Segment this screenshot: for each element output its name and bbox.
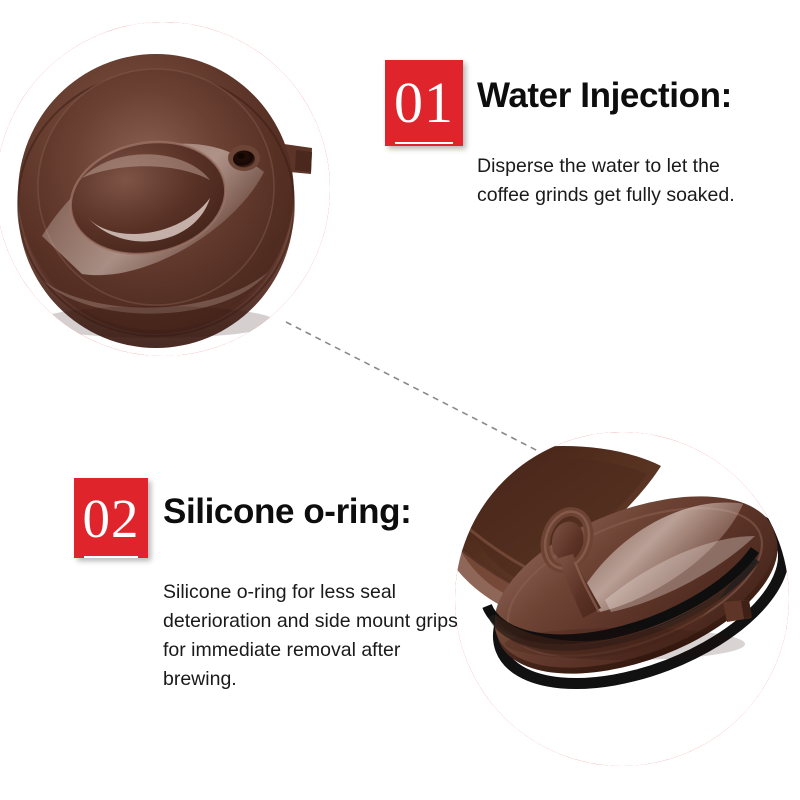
feature-title-01: Water Injection: bbox=[477, 76, 732, 116]
feature-description-01: Disperse the water to let the coffee gri… bbox=[477, 152, 767, 210]
infographic-canvas: 01 Water Injection: Disperse the water t… bbox=[0, 0, 800, 800]
feature-description-02: Silicone o-ring for less seal deteriorat… bbox=[163, 578, 463, 694]
product-photo-bottom-circle bbox=[455, 432, 789, 766]
pod-lid-top-view-illustration bbox=[0, 22, 330, 356]
photo-top-clip bbox=[0, 22, 330, 356]
feature-number-badge-01: 01 bbox=[385, 60, 463, 146]
water-injection-hole bbox=[233, 151, 255, 168]
feature-number-01: 01 bbox=[394, 74, 454, 132]
product-photo-top-circle bbox=[0, 22, 330, 356]
feature-title-02: Silicone o-ring: bbox=[163, 492, 411, 532]
feature-number-02: 02 bbox=[83, 491, 140, 546]
feature-number-badge-02: 02 bbox=[74, 478, 148, 558]
photo-bottom-clip bbox=[455, 432, 789, 766]
pod-lid-oring-illustration bbox=[455, 432, 789, 766]
